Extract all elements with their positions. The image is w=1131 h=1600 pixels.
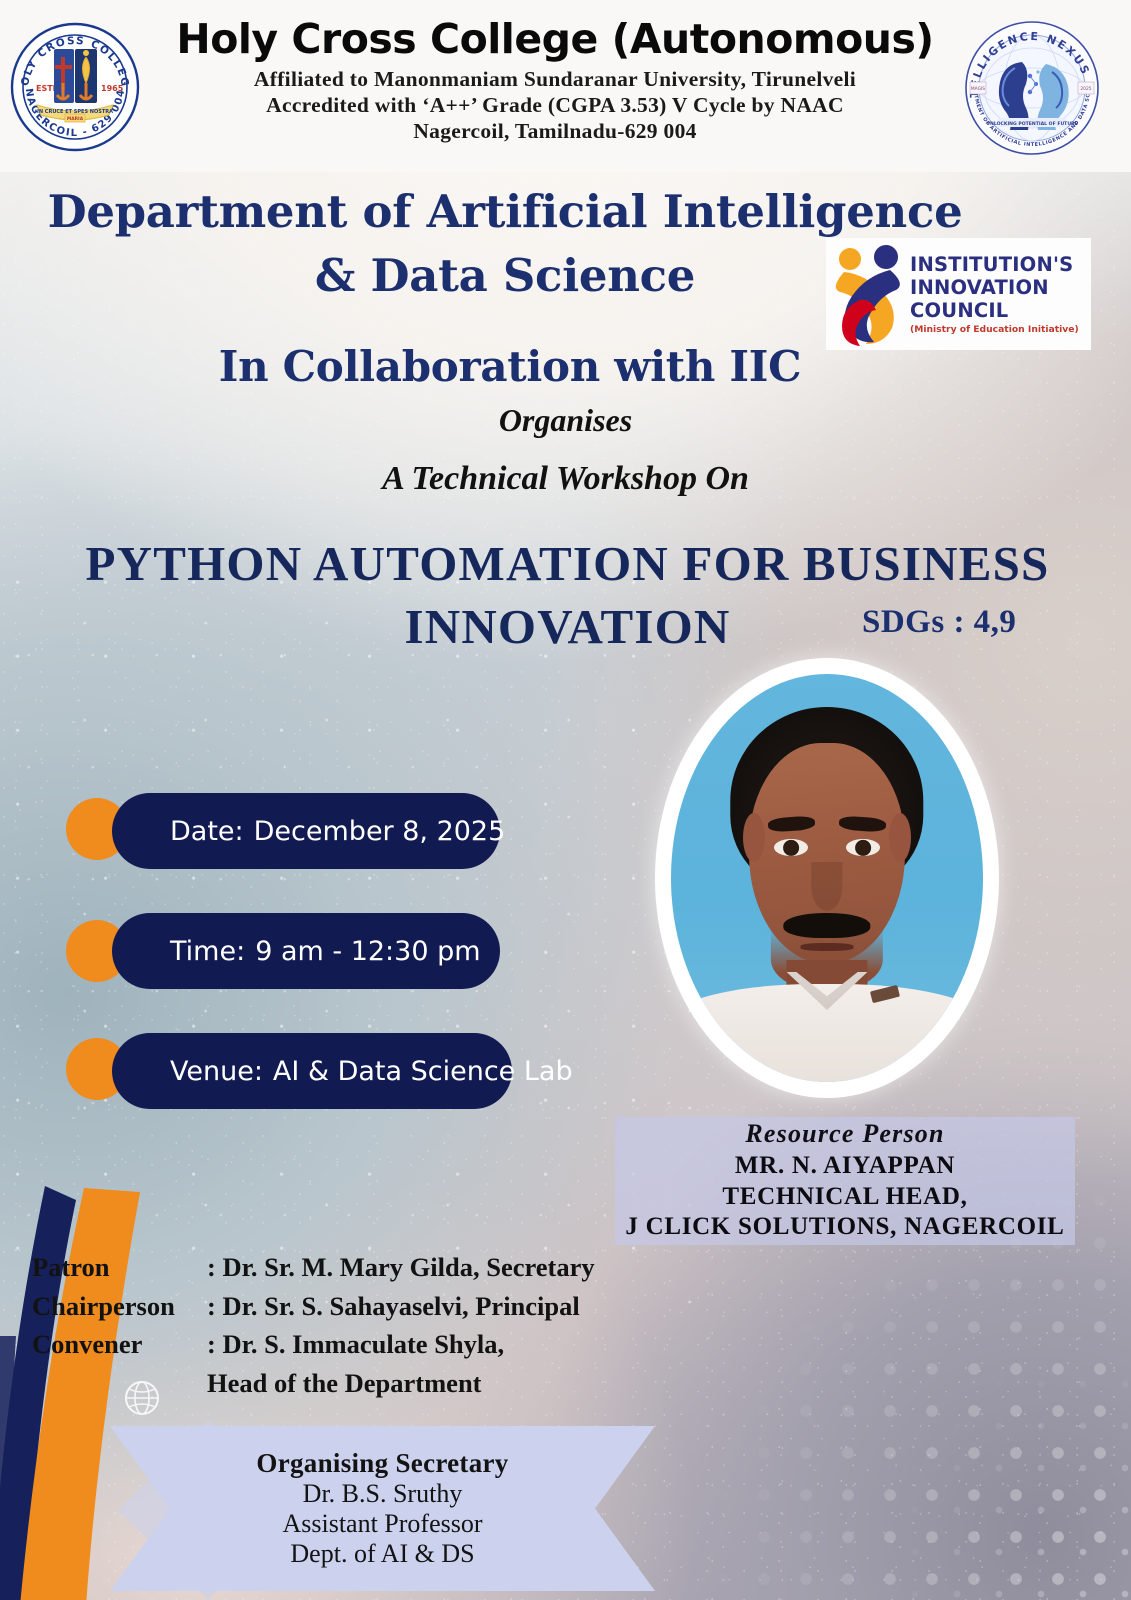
convener-value: : Dr. S. Immaculate Shyla,	[207, 1325, 632, 1364]
ribbon-line-2: Dr. B.S. Sruthy	[303, 1479, 463, 1509]
iic-emblem-icon	[830, 242, 906, 346]
organiser-row-convener: Convener : Dr. S. Immaculate Shyla,	[32, 1325, 632, 1364]
intelligence-nexus-hub-logo: INTELLIGENCE NEXUS HUB DEPARTMENT OF ART…	[960, 14, 1105, 162]
resource-person-organisation: J CLICK SOLUTIONS, NAGERCOIL	[625, 1212, 1064, 1243]
patron-value: : Dr. Sr. M. Mary Gilda, Secretary	[207, 1248, 632, 1287]
college-name: Holy Cross College (Autonomous)	[150, 18, 960, 61]
iic-line-3: COUNCIL	[910, 299, 1079, 322]
chairperson-role: Chairperson	[32, 1287, 207, 1326]
organiser-row-patron: Patron : Dr. Sr. M. Mary Gilda, Secretar…	[32, 1248, 632, 1287]
affiliation-line-3: Nagercoil, Tamilnadu-629 004	[150, 118, 960, 144]
date-value: December 8, 2025	[254, 816, 506, 847]
venue-value: AI & Data Science Lab	[273, 1056, 573, 1087]
svg-text:2025: 2025	[1080, 86, 1091, 92]
patron-role: Patron	[32, 1248, 207, 1287]
svg-text:MAGIS: MAGIS	[971, 86, 985, 92]
resource-person-photo	[671, 674, 983, 1082]
resource-person-name: MR. N. AIYAPPAN	[735, 1151, 955, 1182]
resource-person-photo-frame	[655, 658, 999, 1098]
iic-subtitle: (Ministry of Education Initiative)	[910, 324, 1079, 335]
svg-text:UNLOCKING POTENTIAL OF FUTURE: UNLOCKING POTENTIAL OF FUTURE	[986, 121, 1077, 127]
poster-canvas: HOLY CROSS COLLEGE NAGERCOIL - 629 004 E…	[0, 0, 1131, 1600]
iic-line-2: INNOVATION	[910, 276, 1079, 299]
ribbon-line-1: Organising Secretary	[256, 1448, 508, 1479]
organising-secretary-ribbon: Organising Secretary Dr. B.S. Sruthy Ass…	[110, 1426, 655, 1591]
date-label: Date:	[170, 816, 244, 847]
holy-cross-college-seal-logo: HOLY CROSS COLLEGE NAGERCOIL - 629 004 E…	[7, 13, 143, 161]
iic-line-1: INSTITUTION'S	[910, 253, 1079, 276]
iic-logo-block: INSTITUTION'S INNOVATION COUNCIL (Minist…	[826, 238, 1091, 350]
ribbon-line-4: Dept. of AI & DS	[290, 1539, 474, 1569]
sdg-badge: SDGs : 4,9	[862, 604, 1016, 641]
time-label: Time:	[170, 936, 245, 967]
detail-pill-venue: Venue: AI & Data Science Lab	[112, 1033, 512, 1109]
workshop-on-text: A Technical Workshop On	[0, 460, 1131, 498]
affiliation-line-1: Affiliated to Manonmaniam Sundaranar Uni…	[150, 66, 960, 92]
header-text-block: Holy Cross College (Autonomous) Affiliat…	[150, 18, 960, 145]
halftone-dot-pattern-small	[831, 1300, 1131, 1600]
resource-person-heading: Resource Person	[745, 1119, 944, 1149]
affiliation-line-2: Accredited with ‘A++’ Grade (CGPA 3.53) …	[150, 92, 960, 118]
organises-text: Organises	[0, 402, 1131, 439]
resource-person-box: Resource Person MR. N. AIYAPPAN TECHNICA…	[615, 1117, 1075, 1245]
department-title-line-1: Department of Artificial Intelligence	[40, 180, 970, 244]
ribbon-line-3: Assistant Professor	[282, 1509, 482, 1539]
organiser-row-chairperson: Chairperson : Dr. Sr. S. Sahayaselvi, Pr…	[32, 1287, 632, 1326]
detail-pill-time: Time: 9 am - 12:30 pm	[112, 913, 500, 989]
workshop-title-line-1: PYTHON AUTOMATION FOR BUSINESS	[45, 533, 1090, 596]
svg-text:MARIA: MARIA	[67, 116, 84, 122]
globe-icon	[122, 1378, 162, 1418]
resource-person-designation: TECHNICAL HEAD,	[722, 1182, 967, 1213]
detail-pill-date: Date: December 8, 2025	[112, 793, 500, 869]
collaboration-text: In Collaboration with IIC	[60, 342, 960, 391]
convener-role: Convener	[32, 1325, 207, 1364]
chairperson-value: : Dr. Sr. S. Sahayaselvi, Principal	[207, 1287, 632, 1326]
venue-label: Venue:	[170, 1056, 263, 1087]
time-value: 9 am - 12:30 pm	[255, 936, 480, 967]
svg-text:1965: 1965	[101, 84, 124, 93]
